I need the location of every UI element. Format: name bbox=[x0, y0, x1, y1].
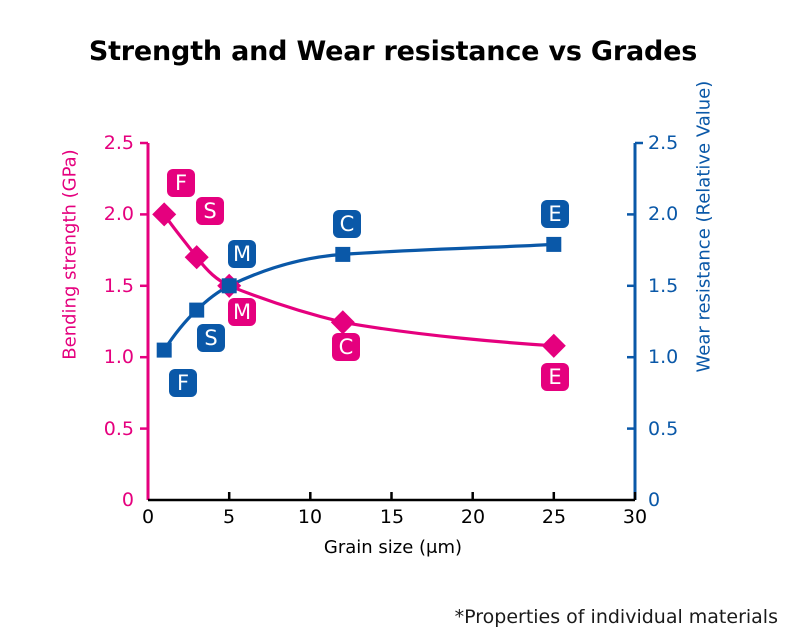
y-right-tick-2-5: 2.5 bbox=[648, 132, 694, 154]
point-label-wear-E: E bbox=[541, 200, 569, 228]
point-label-wear-F: F bbox=[169, 369, 197, 397]
y-right-tick-1-5: 1.5 bbox=[648, 275, 694, 297]
point-label-bending-C: C bbox=[332, 333, 360, 361]
x-tick-20: 20 bbox=[453, 506, 493, 528]
x-axis-title: Grain size (μm) bbox=[248, 537, 538, 558]
x-tick-15: 15 bbox=[372, 506, 412, 528]
marker-diamond-C bbox=[331, 310, 355, 334]
y-axis-right-title: Wear resistance (Relative Value) bbox=[694, 113, 715, 373]
y-right-tick-2-0: 2.0 bbox=[648, 203, 694, 225]
x-tick-5: 5 bbox=[209, 506, 249, 528]
y-left-tick-2-0: 2.0 bbox=[88, 203, 134, 225]
marker-square-C bbox=[335, 247, 350, 262]
chart-footnote: *Properties of individual materials bbox=[455, 606, 778, 628]
y-right-tick-1-0: 1.0 bbox=[648, 346, 694, 368]
y-right-tick-0-5: 0.5 bbox=[648, 418, 694, 440]
x-tick-10: 10 bbox=[290, 506, 330, 528]
x-tick-30: 30 bbox=[615, 506, 655, 528]
y-left-tick-2-5: 2.5 bbox=[88, 132, 134, 154]
point-label-bending-F: F bbox=[167, 169, 195, 197]
point-label-bending-E: E bbox=[541, 363, 569, 391]
marker-square-M bbox=[222, 278, 237, 293]
point-label-wear-C: C bbox=[333, 210, 361, 238]
y-left-tick-1-5: 1.5 bbox=[88, 275, 134, 297]
marker-square-F bbox=[157, 343, 172, 358]
x-tick-25: 25 bbox=[534, 506, 574, 528]
marker-diamond-E bbox=[542, 334, 566, 358]
point-label-wear-M: M bbox=[228, 240, 256, 268]
x-tick-0: 0 bbox=[128, 506, 168, 528]
marker-diamond-F bbox=[152, 202, 176, 226]
y-axis-left-title: Bending strength (GPa) bbox=[60, 135, 81, 375]
y-left-tick-1-0: 1.0 bbox=[88, 346, 134, 368]
point-label-bending-S: S bbox=[196, 197, 224, 225]
marker-square-E bbox=[546, 237, 561, 252]
marker-square-S bbox=[189, 303, 204, 318]
chart-container: Strength and Wear resistance vs Grades bbox=[0, 0, 786, 642]
point-label-bending-M: M bbox=[228, 298, 256, 326]
y-left-tick-0-5: 0.5 bbox=[88, 418, 134, 440]
point-label-wear-S: S bbox=[197, 324, 225, 352]
